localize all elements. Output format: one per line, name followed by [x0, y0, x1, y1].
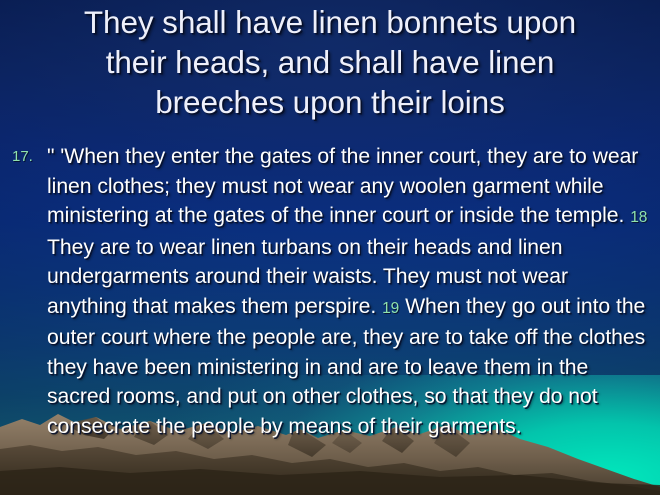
slide-title: They shall have linen bonnets upon their… — [16, 2, 644, 122]
presentation-slide: They shall have linen bonnets upon their… — [0, 0, 660, 495]
verse-number-marker: 17. — [7, 142, 47, 172]
verse-body-text: " 'When they enter the gates of the inne… — [47, 142, 653, 441]
inline-verse-number: 18 — [630, 209, 647, 226]
verse-body-block: 17. " 'When they enter the gates of the … — [7, 142, 653, 441]
verse-text-run: " 'When they enter the gates of the inne… — [47, 145, 638, 227]
inline-verse-number: 19 — [382, 300, 399, 317]
